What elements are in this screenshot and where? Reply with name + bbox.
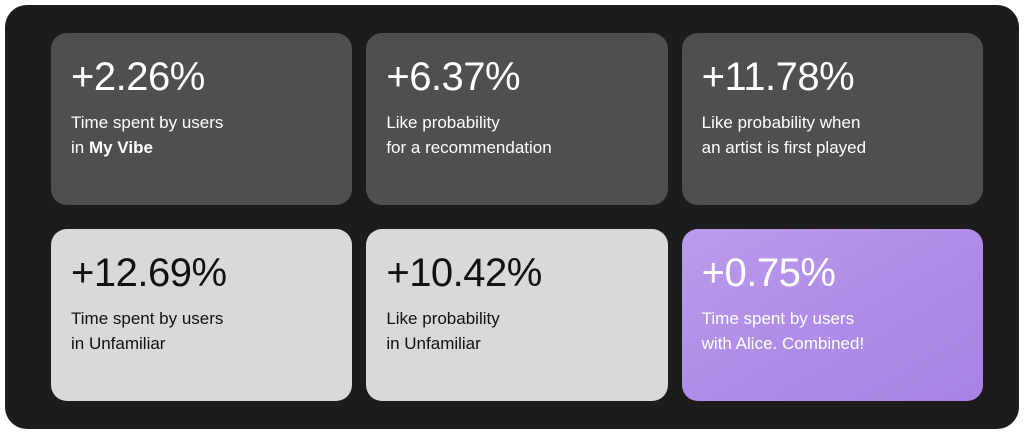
metric-value: +6.37% (386, 57, 647, 97)
metric-caption-line1: Like probability when (702, 113, 861, 132)
metric-caption-line1: Like probability (386, 113, 499, 132)
metric-caption-line1: Like probability (386, 309, 499, 328)
screenshot-stage: +2.26% Time spent by users in My Vibe +6… (0, 0, 1024, 434)
metric-caption-line2-prefix: in Unfamiliar (386, 334, 480, 353)
metric-caption: Time spent by users with Alice. Combined… (702, 307, 963, 356)
metric-caption-line2-prefix: in (71, 138, 89, 157)
metric-caption-line1: Time spent by users (702, 309, 854, 328)
metric-caption-line1: Time spent by users (71, 113, 223, 132)
metric-card-like-probability-first-played[interactable]: +11.78% Like probability when an artist … (682, 33, 983, 205)
metric-caption: Time spent by users in Unfamiliar (71, 307, 332, 356)
metric-caption-line2-prefix: an artist is first played (702, 138, 866, 157)
metric-card-like-probability-unfamiliar[interactable]: +10.42% Like probability in Unfamiliar (366, 229, 667, 401)
metric-card-time-spent-alice-combined[interactable]: +0.75% Time spent by users with Alice. C… (682, 229, 983, 401)
metric-caption: Like probability for a recommendation (386, 111, 647, 160)
metric-caption-line2-prefix: in Unfamiliar (71, 334, 165, 353)
metric-caption: Time spent by users in My Vibe (71, 111, 332, 160)
metric-value: +10.42% (386, 253, 647, 293)
metric-value: +12.69% (71, 253, 332, 293)
metric-card-time-spent-unfamiliar[interactable]: +12.69% Time spent by users in Unfamilia… (51, 229, 352, 401)
metrics-grid: +2.26% Time spent by users in My Vibe +6… (51, 33, 983, 401)
metric-caption-line2-emphasis: My Vibe (89, 138, 153, 157)
metric-caption: Like probability in Unfamiliar (386, 307, 647, 356)
metric-caption-line2-prefix: with Alice. Combined! (702, 334, 865, 353)
metric-card-like-probability-recommendation[interactable]: +6.37% Like probability for a recommenda… (366, 33, 667, 205)
metrics-panel: +2.26% Time spent by users in My Vibe +6… (5, 5, 1019, 429)
metric-value: +2.26% (71, 57, 332, 97)
metric-caption-line1: Time spent by users (71, 309, 223, 328)
metric-caption: Like probability when an artist is first… (702, 111, 963, 160)
metric-value: +11.78% (702, 57, 963, 97)
metric-value: +0.75% (702, 253, 963, 293)
metric-card-time-spent-my-vibe[interactable]: +2.26% Time spent by users in My Vibe (51, 33, 352, 205)
metric-caption-line2-prefix: for a recommendation (386, 138, 551, 157)
